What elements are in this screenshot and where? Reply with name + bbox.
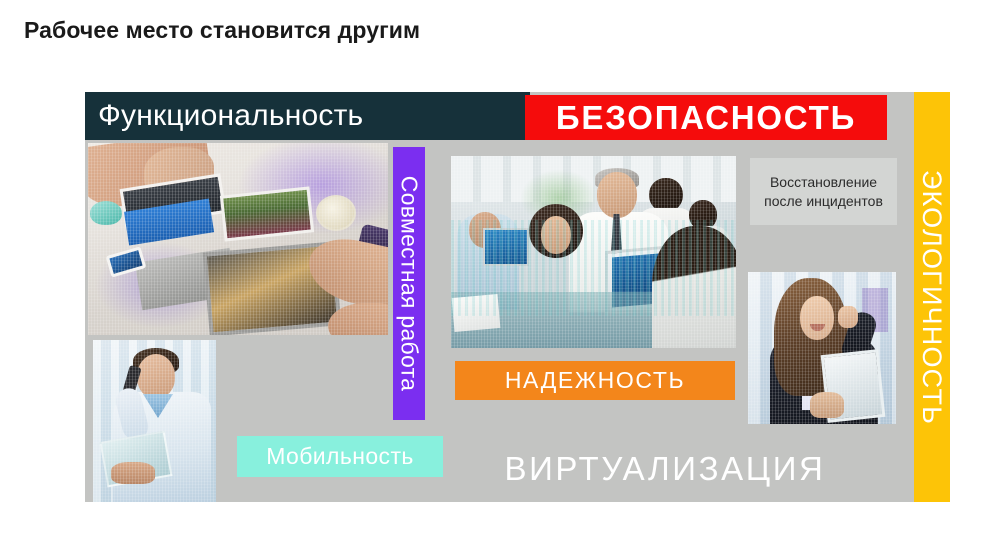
banner-collaboration-label: Совместная работа <box>396 176 423 392</box>
tablets-and-devices-on-desk-photo <box>88 143 388 335</box>
banner-virtualization: ВИРТУАЛИЗАЦИЯ <box>469 447 861 491</box>
banner-reliability: НАДЕЖНОСТЬ <box>455 361 735 400</box>
banner-ecology: ЭКОЛОГИЧНОСТЬ <box>914 92 950 502</box>
banner-collaboration: Совместная работа <box>393 147 425 420</box>
banner-security-label: БЕЗОПАСНОСТЬ <box>556 99 856 137</box>
office-team-at-computers-photo <box>451 156 736 348</box>
banner-ecology-label: ЭКОЛОГИЧНОСТЬ <box>917 169 948 424</box>
banner-security: БЕЗОПАСНОСТЬ <box>525 95 887 140</box>
banner-mobility: Мобильность <box>237 436 443 477</box>
label-incident-recovery: Восстановление после инцидентов <box>750 158 897 225</box>
banner-reliability-label: НАДЕЖНОСТЬ <box>505 367 685 394</box>
label-incident-recovery-text: Восстановление после инцидентов <box>756 173 891 210</box>
slide-canvas: Рабочее место становится другим <box>0 0 1000 541</box>
businessman-on-phone-with-tablet-photo <box>93 340 216 502</box>
banner-virtualization-label: ВИРТУАЛИЗАЦИЯ <box>505 450 826 488</box>
banner-mobility-label: Мобильность <box>266 443 414 470</box>
banner-functionality: Функциональность <box>85 92 530 140</box>
businesswoman-with-tablet-photo <box>748 272 896 424</box>
banner-functionality-label: Функциональность <box>98 99 363 133</box>
page-title: Рабочее место становится другим <box>24 17 420 44</box>
